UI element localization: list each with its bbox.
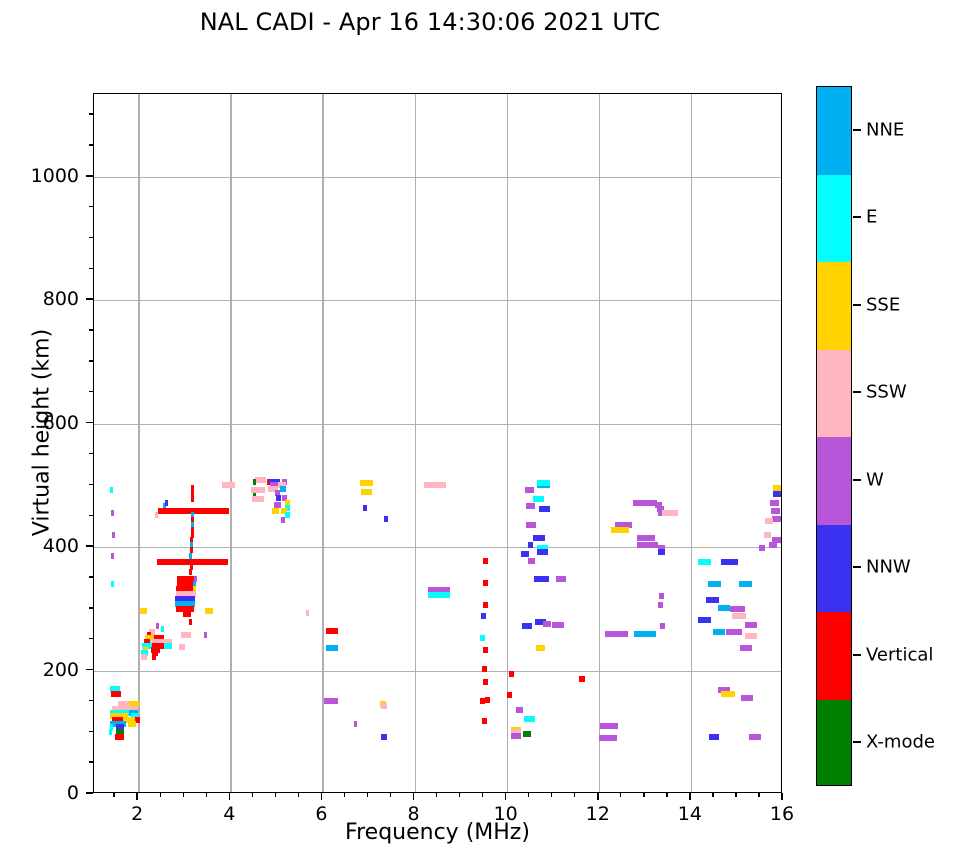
y-minor-tick [89,638,93,639]
data-mark [658,602,664,608]
colorbar-segment-nnw[interactable] [817,525,851,613]
gridline-y-1000 [94,177,781,178]
y-minor-tick [89,268,93,269]
data-mark [204,632,208,638]
data-mark [611,527,629,533]
x-minor-tick [735,793,736,797]
colorbar-segment-x-mode[interactable] [817,700,851,787]
data-mark [516,707,523,713]
x-minor-tick [482,793,483,797]
colorbar-label-sse: SSE [866,294,900,315]
y-minor-tick [89,761,93,762]
data-mark [759,545,765,551]
data-mark [507,692,513,698]
x-minor-tick [160,793,161,797]
gridline-x-14 [691,94,692,792]
data-mark [111,510,114,516]
data-mark [521,551,529,557]
data-mark [600,723,618,729]
data-mark [354,721,357,727]
gridline-x-2 [138,94,139,792]
x-minor-tick [206,793,207,797]
x-tick-16 [781,793,783,800]
gridline-x-4 [230,94,231,792]
data-mark [556,576,566,582]
x-minor-tick [436,793,437,797]
colorbar-tick-nne [853,129,861,131]
data-mark [605,631,628,637]
page-title: NAL CADI - Apr 16 14:30:06 2021 UTC [0,8,860,36]
data-mark [599,735,617,741]
data-mark [528,558,535,564]
x-axis-label: Frequency (MHz) [93,820,782,845]
gridline-y-200 [94,671,781,672]
data-mark [190,547,193,553]
y-minor-tick [89,144,93,145]
data-mark [769,542,777,548]
data-mark [179,644,185,650]
x-tick-8 [413,793,415,800]
y-minor-tick [89,206,93,207]
gridline-y-600 [94,424,781,425]
data-mark [552,622,564,628]
data-mark [732,613,746,619]
data-mark [539,506,550,512]
data-mark [156,623,159,629]
data-mark [533,535,545,541]
data-mark [634,631,656,637]
data-mark [111,581,114,587]
data-mark [528,542,534,548]
data-mark [285,512,290,518]
data-mark [483,679,489,685]
x-minor-tick [712,793,713,797]
plot-area[interactable] [93,93,782,793]
x-minor-tick [367,793,368,797]
data-mark [483,647,489,653]
data-mark [274,502,281,508]
data-mark [424,482,446,488]
data-mark [522,623,531,629]
x-minor-tick [275,793,276,797]
data-mark [360,480,373,486]
colorbar-tick-vertical [853,654,861,656]
data-mark [773,485,781,491]
data-mark [526,522,536,528]
data-mark [709,734,719,740]
x-tick-10 [505,793,507,800]
data-mark [255,477,266,483]
colorbar-label-e: E [866,207,877,228]
data-mark [161,626,164,632]
y-tick-200 [86,669,93,671]
x-minor-tick [183,793,184,797]
data-mark [252,496,264,502]
data-mark [637,535,655,541]
gridline-y-400 [94,547,781,548]
data-mark [525,487,534,493]
data-mark [745,633,757,639]
colorbar-segment-ssw[interactable] [817,350,851,438]
x-tick-4 [229,793,231,800]
colorbar-segment-e[interactable] [817,175,851,263]
data-mark [189,619,192,625]
data-mark [480,635,485,641]
gridline-x-6 [322,94,323,792]
colorbar-tick-nnw [853,566,861,568]
data-mark [140,608,147,614]
y-minor-tick [89,731,93,732]
data-mark [483,602,489,608]
x-minor-tick [643,793,644,797]
data-mark [726,629,742,635]
colorbar-tick-ssw [853,391,861,393]
x-minor-tick [252,793,253,797]
x-tick-2 [136,793,138,800]
colorbar-segment-vertical[interactable] [817,612,851,700]
colorbar-tick-x-mode [853,741,861,743]
colorbar-label-w: W [866,469,884,490]
colorbar-segment-nne[interactable] [817,87,851,175]
y-minor-tick [89,237,93,238]
data-mark [537,549,548,555]
y-minor-tick [89,329,93,330]
data-mark [511,733,521,739]
data-mark [361,489,372,495]
y-tick-0 [86,792,93,794]
data-mark [523,731,531,737]
y-tick-600 [86,422,93,424]
data-mark [326,628,338,634]
data-mark [764,532,770,538]
data-mark [205,608,212,614]
y-minor-tick [89,607,93,608]
gridline-y-800 [94,300,781,301]
data-mark [659,593,665,599]
data-mark [381,703,387,709]
data-mark [713,629,725,635]
y-minor-tick [89,391,93,392]
x-minor-tick [666,793,667,797]
x-minor-tick [620,793,621,797]
x-minor-tick [551,793,552,797]
y-minor-tick [89,484,93,485]
ionogram-page: NAL CADI - Apr 16 14:30:06 2021 UTC 0200… [0,0,958,857]
data-mark [637,542,657,548]
data-mark [152,654,157,660]
colorbar-segment-w[interactable] [817,437,851,525]
data-mark [276,495,281,501]
data-mark [306,610,309,616]
data-mark [326,645,338,651]
data-mark [428,592,450,598]
gridline-x-8 [415,94,416,792]
data-mark [189,553,192,559]
data-mark [111,553,114,559]
y-minor-tick [89,360,93,361]
y-minor-tick [89,113,93,114]
y-tick-1000 [86,175,93,177]
data-mark [109,729,112,735]
y-tick-label-0: 0 [0,782,79,804]
data-mark [222,482,236,488]
data-mark [485,697,491,703]
data-mark [745,622,757,628]
data-mark [481,613,486,619]
data-mark [721,559,738,565]
gridline-x-10 [507,94,508,792]
y-axis-label: Virtual height (km) [30,153,55,713]
data-mark [772,516,780,522]
data-mark [718,605,731,611]
data-mark [771,508,780,514]
data-mark [191,496,194,502]
data-mark [633,500,657,506]
x-tick-14 [689,793,691,800]
colorbar-tick-e [853,216,861,218]
x-minor-tick [298,793,299,797]
colorbar-label-vertical: Vertical [866,644,933,665]
data-mark [749,734,761,740]
data-mark [739,581,752,587]
data-mark [579,676,585,682]
data-mark [706,597,719,603]
y-minor-tick [89,515,93,516]
data-mark [381,734,387,740]
data-mark [770,500,779,506]
data-mark [537,480,551,486]
data-mark [483,580,489,586]
colorbar-tick-sse [853,304,861,306]
data-mark [189,569,192,575]
data-mark [534,576,550,582]
data-mark [141,654,147,660]
x-minor-tick [390,793,391,797]
data-mark [773,491,781,497]
data-mark [384,516,389,522]
data-mark [698,617,711,623]
data-mark [533,496,544,502]
x-minor-tick [113,793,114,797]
data-mark [708,581,721,587]
data-mark [181,632,191,638]
data-mark [658,549,664,555]
gridline-x-12 [599,94,600,792]
data-mark [363,505,367,511]
x-tick-6 [321,793,323,800]
colorbar-label-nne: NNE [866,119,904,140]
data-mark [721,691,735,697]
data-mark [191,485,194,491]
data-mark [740,645,752,651]
colorbar-label-x-mode: X-mode [866,732,935,753]
colorbar-label-nnw: NNW [866,557,911,578]
colorbar-tick-w [853,479,861,481]
data-mark [482,666,487,672]
data-mark [115,734,124,740]
data-mark [536,645,545,651]
data-mark [660,623,665,629]
data-mark [509,671,515,677]
data-mark [524,716,535,722]
data-mark [183,611,190,617]
y-minor-tick [89,576,93,577]
x-tick-12 [597,793,599,800]
data-mark [662,510,678,516]
x-minor-tick [574,793,575,797]
data-mark [128,721,136,727]
data-mark [741,695,753,701]
data-mark [112,532,115,538]
x-minor-tick [344,793,345,797]
data-mark [543,621,551,627]
x-minor-tick [758,793,759,797]
colorbar-label-ssw: SSW [866,382,907,403]
y-minor-tick [89,453,93,454]
colorbar-segment-sse[interactable] [817,262,851,350]
y-minor-tick [89,700,93,701]
data-mark [251,487,266,493]
data-mark [324,698,338,704]
data-mark [165,500,168,506]
data-mark [483,558,489,564]
data-mark [111,691,121,697]
data-mark [730,606,745,612]
data-mark [765,518,772,524]
x-minor-tick [459,793,460,797]
data-mark [280,486,286,492]
data-mark [164,643,172,649]
y-tick-400 [86,545,93,547]
data-mark [272,508,278,514]
data-mark [253,479,256,485]
colorbar[interactable] [816,86,852,786]
data-mark [281,517,286,523]
x-minor-tick [528,793,529,797]
data-mark [110,487,113,493]
data-mark [526,503,535,509]
data-mark [482,718,487,724]
y-tick-800 [86,298,93,300]
data-mark [698,559,711,565]
